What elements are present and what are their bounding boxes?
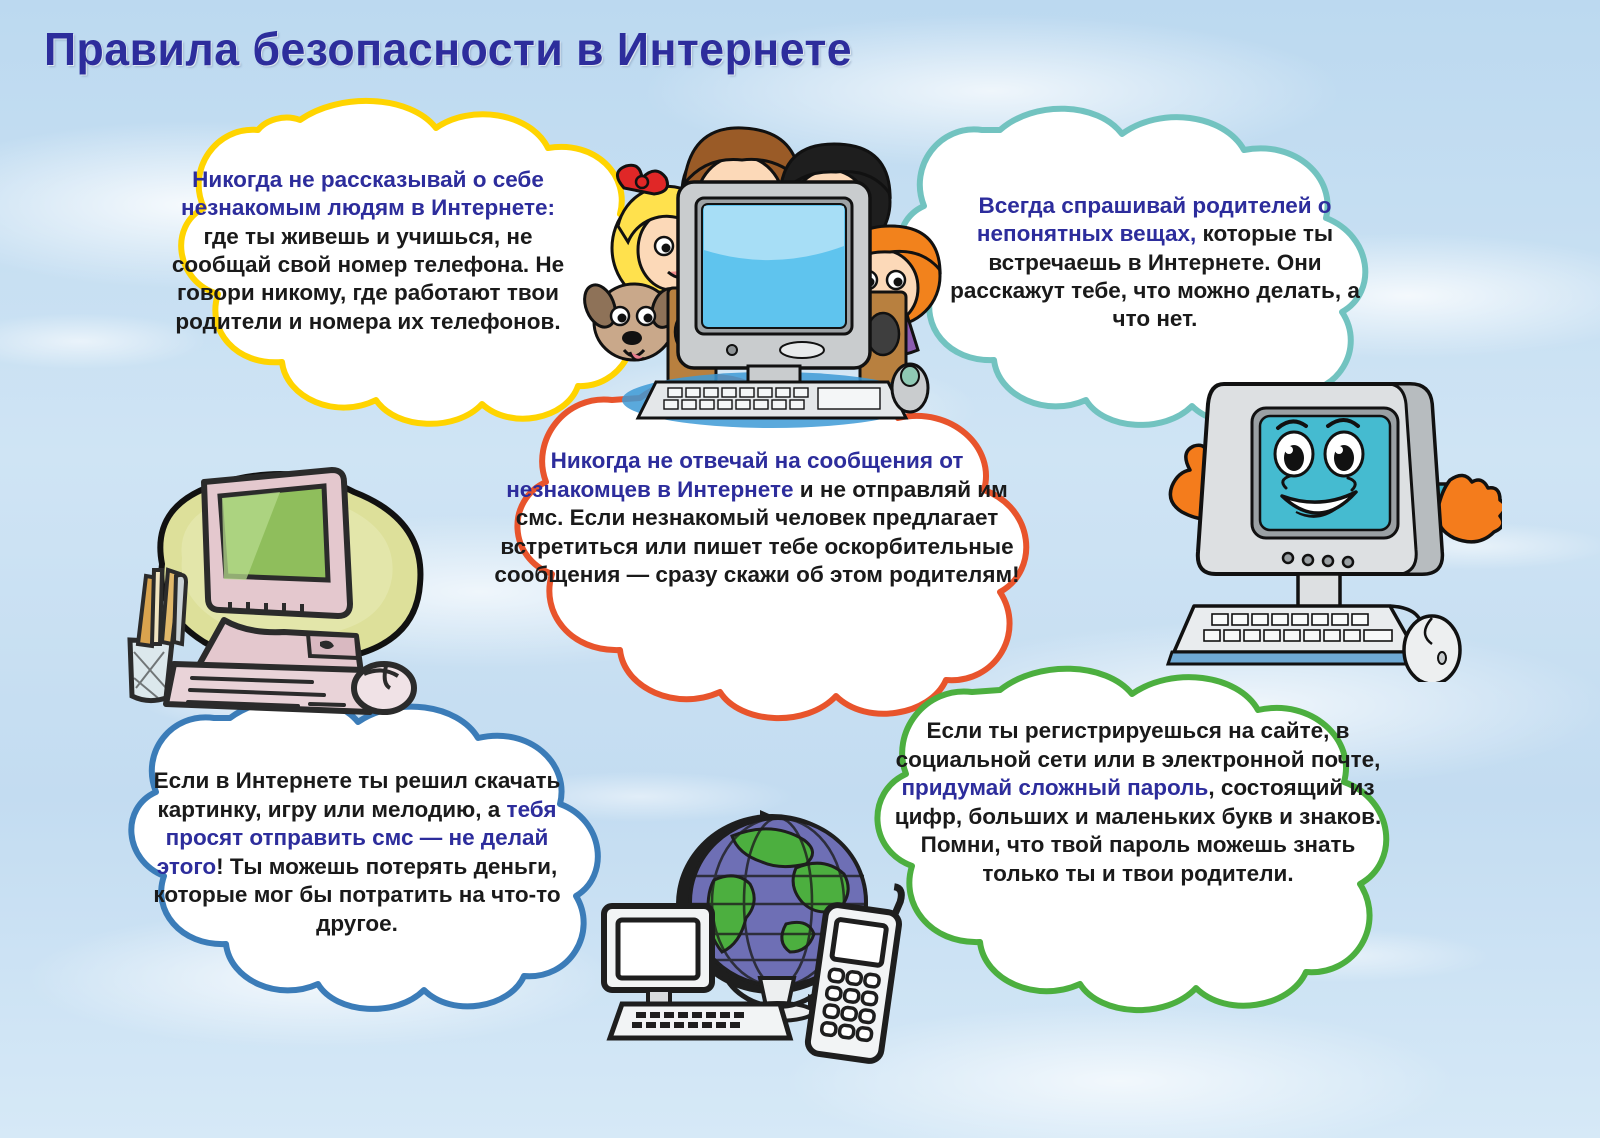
cloud-text-top-left: Никогда не рассказывай о себе незнакомым…	[168, 166, 568, 336]
illustration-computer-mascot	[1132, 362, 1502, 682]
cloud-highlight-top-left: Никогда не рассказывай о себе незнакомым…	[181, 167, 555, 220]
cloud-lead-bottom-right: Если ты регистрируешься на сайте, в соци…	[896, 718, 1381, 772]
illustration-kids-at-computer	[572, 100, 962, 430]
page-title: Правила безопасности в Интернете	[44, 22, 852, 76]
cloud-highlight-bottom-right: придумай сложный пароль	[901, 775, 1208, 800]
illustration-globe-devices	[582, 772, 922, 1064]
cloud-text-top-right: Всегда спрашивай родителей о непонятных …	[930, 192, 1380, 334]
cloud-body-top-left: где ты живешь и учишься, не сообщай свой…	[172, 224, 564, 334]
cloud-text-center: Никогда не отвечай на сообщения от незна…	[492, 447, 1022, 590]
cloud-text-bottom-right: Если ты регистрируешься на сайте, в соци…	[888, 717, 1388, 888]
cloud-text-bottom-left: Если в Интернете ты решил скачать картин…	[132, 767, 582, 938]
illustration-desk-computer	[112, 452, 442, 734]
cloud-lead-bottom-left: Если в Интернете ты решил скачать картин…	[154, 768, 561, 822]
